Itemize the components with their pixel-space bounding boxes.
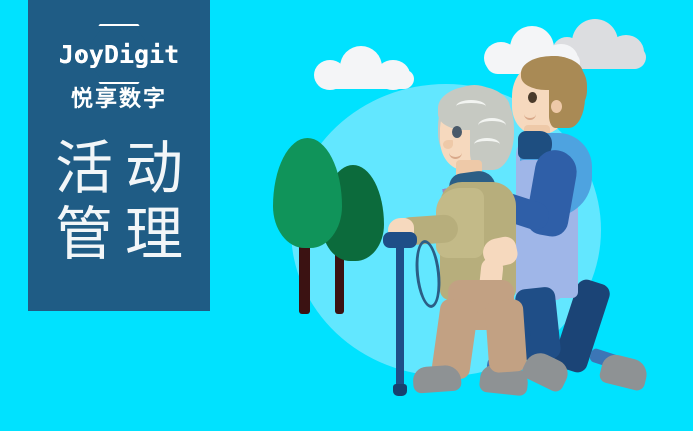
elderly-eye bbox=[452, 126, 462, 138]
young-man-back-shoe bbox=[598, 352, 650, 392]
brand-wordmark: JoyDigit bbox=[59, 40, 179, 69]
brand-subtitle: 悦享数字 bbox=[71, 88, 167, 110]
elderly-hair-highlight-2 bbox=[478, 118, 506, 133]
cane-shaft bbox=[396, 240, 404, 388]
young-man-hair-side bbox=[549, 62, 585, 128]
page-title-line-1: 活动 bbox=[43, 136, 195, 202]
young-man-eye bbox=[528, 92, 537, 103]
left-title-panel: JoyDigit 悦享数字 活动 管理 bbox=[28, 0, 210, 311]
elderly-nose bbox=[443, 140, 453, 149]
cloud-left-icon bbox=[312, 46, 418, 86]
elderly-back-shoe bbox=[412, 364, 462, 393]
page-title: 活动 管理 bbox=[43, 136, 195, 268]
elderly-hair-highlight-1 bbox=[456, 100, 486, 113]
cane-handle bbox=[383, 232, 417, 248]
young-man-ear bbox=[551, 100, 562, 113]
brand-logo: JoyDigit bbox=[44, 26, 194, 82]
poster-canvas: JoyDigit 悦享数字 活动 管理 bbox=[0, 0, 693, 431]
page-title-line-2: 管理 bbox=[43, 202, 195, 268]
cane-tip bbox=[393, 384, 407, 396]
elderly-front-leg bbox=[485, 299, 528, 373]
elderly-hair-highlight-3 bbox=[474, 138, 500, 151]
